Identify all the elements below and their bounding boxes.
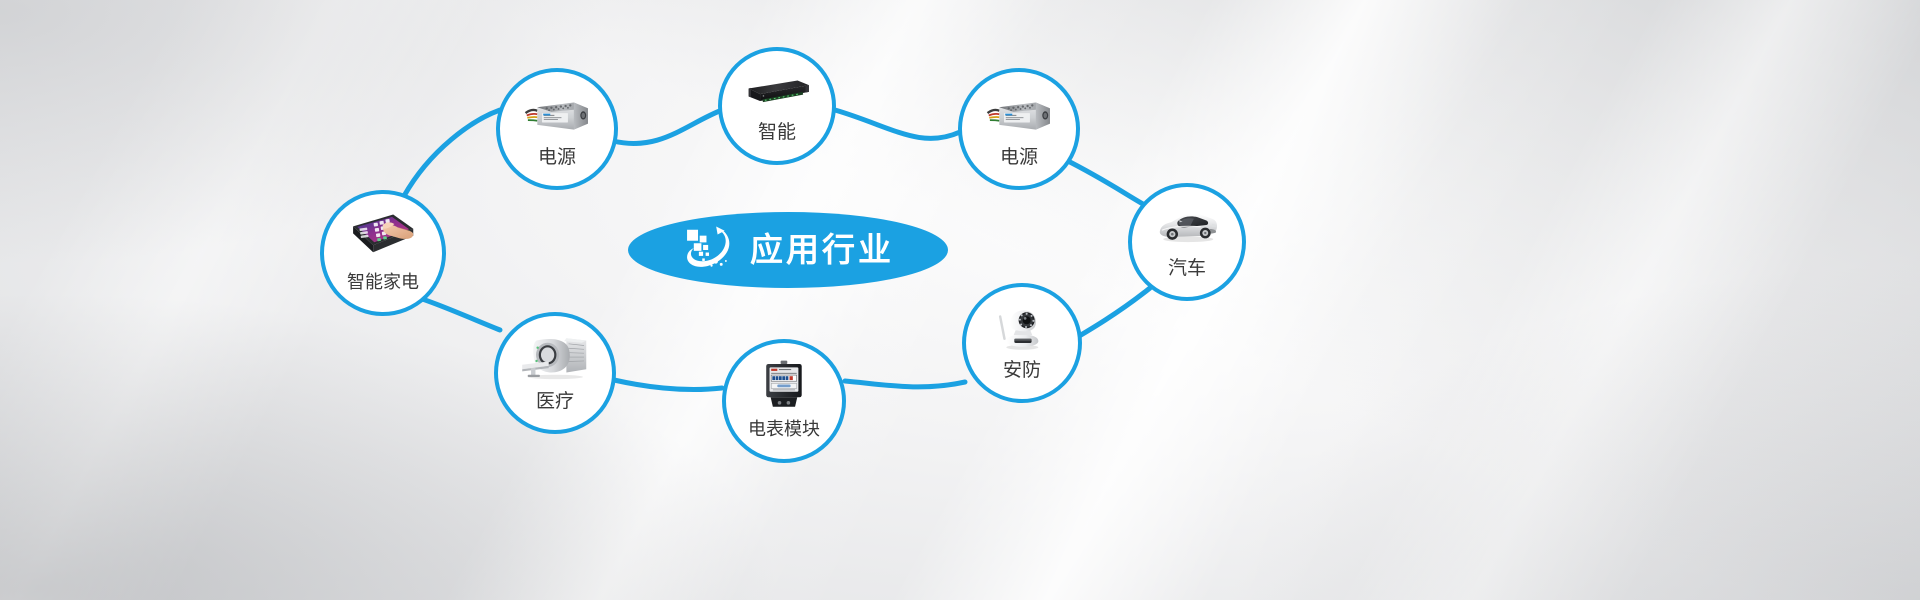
application-industries-banner: 应用行业	[0, 0, 1920, 600]
industry-node-label: 智能家电	[324, 274, 442, 292]
power-supply-icon	[984, 88, 1055, 138]
ct-scanner-icon	[520, 332, 591, 382]
power-supply-icon	[522, 88, 593, 138]
center-badge[interactable]: 应用行业	[628, 212, 948, 288]
industry-node[interactable]: 智能	[718, 47, 836, 165]
ip-camera-icon	[987, 303, 1056, 352]
industry-node-label: 医疗	[498, 392, 612, 411]
connection-lines	[0, 0, 1920, 600]
industry-node-label: 电源	[962, 148, 1076, 167]
orbit-swoosh-logo	[682, 223, 736, 277]
link-power-right-to-car	[1064, 159, 1150, 208]
center-badge-label: 应用行业	[750, 233, 894, 268]
link-power-left-to-smart	[613, 110, 722, 144]
smart-tablet-icon	[346, 211, 419, 263]
link-smart-to-power-right	[835, 110, 960, 138]
industry-node[interactable]: 电表模块	[722, 339, 846, 463]
industry-node-label: 电源	[500, 148, 614, 167]
link-smart-appliance-to-power-left	[404, 110, 500, 196]
industry-node[interactable]: 汽车	[1128, 183, 1246, 301]
industry-node-label: 汽车	[1132, 259, 1242, 278]
electric-meter-icon	[748, 359, 820, 410]
industry-node-label: 智能	[722, 123, 832, 142]
sports-car-icon	[1153, 202, 1221, 250]
rack-server-icon	[743, 66, 811, 114]
industry-node-label: 安防	[966, 361, 1078, 380]
industry-node[interactable]: 电源	[958, 68, 1080, 190]
industry-node[interactable]: 安防	[962, 283, 1082, 403]
link-security-to-meter	[845, 381, 965, 387]
industry-node[interactable]: 智能家电	[320, 190, 446, 316]
industry-node-label: 电表模块	[726, 421, 842, 439]
industry-node[interactable]: 电源	[496, 68, 618, 190]
industry-node[interactable]: 医疗	[494, 312, 616, 434]
link-meter-to-medical	[614, 380, 722, 390]
